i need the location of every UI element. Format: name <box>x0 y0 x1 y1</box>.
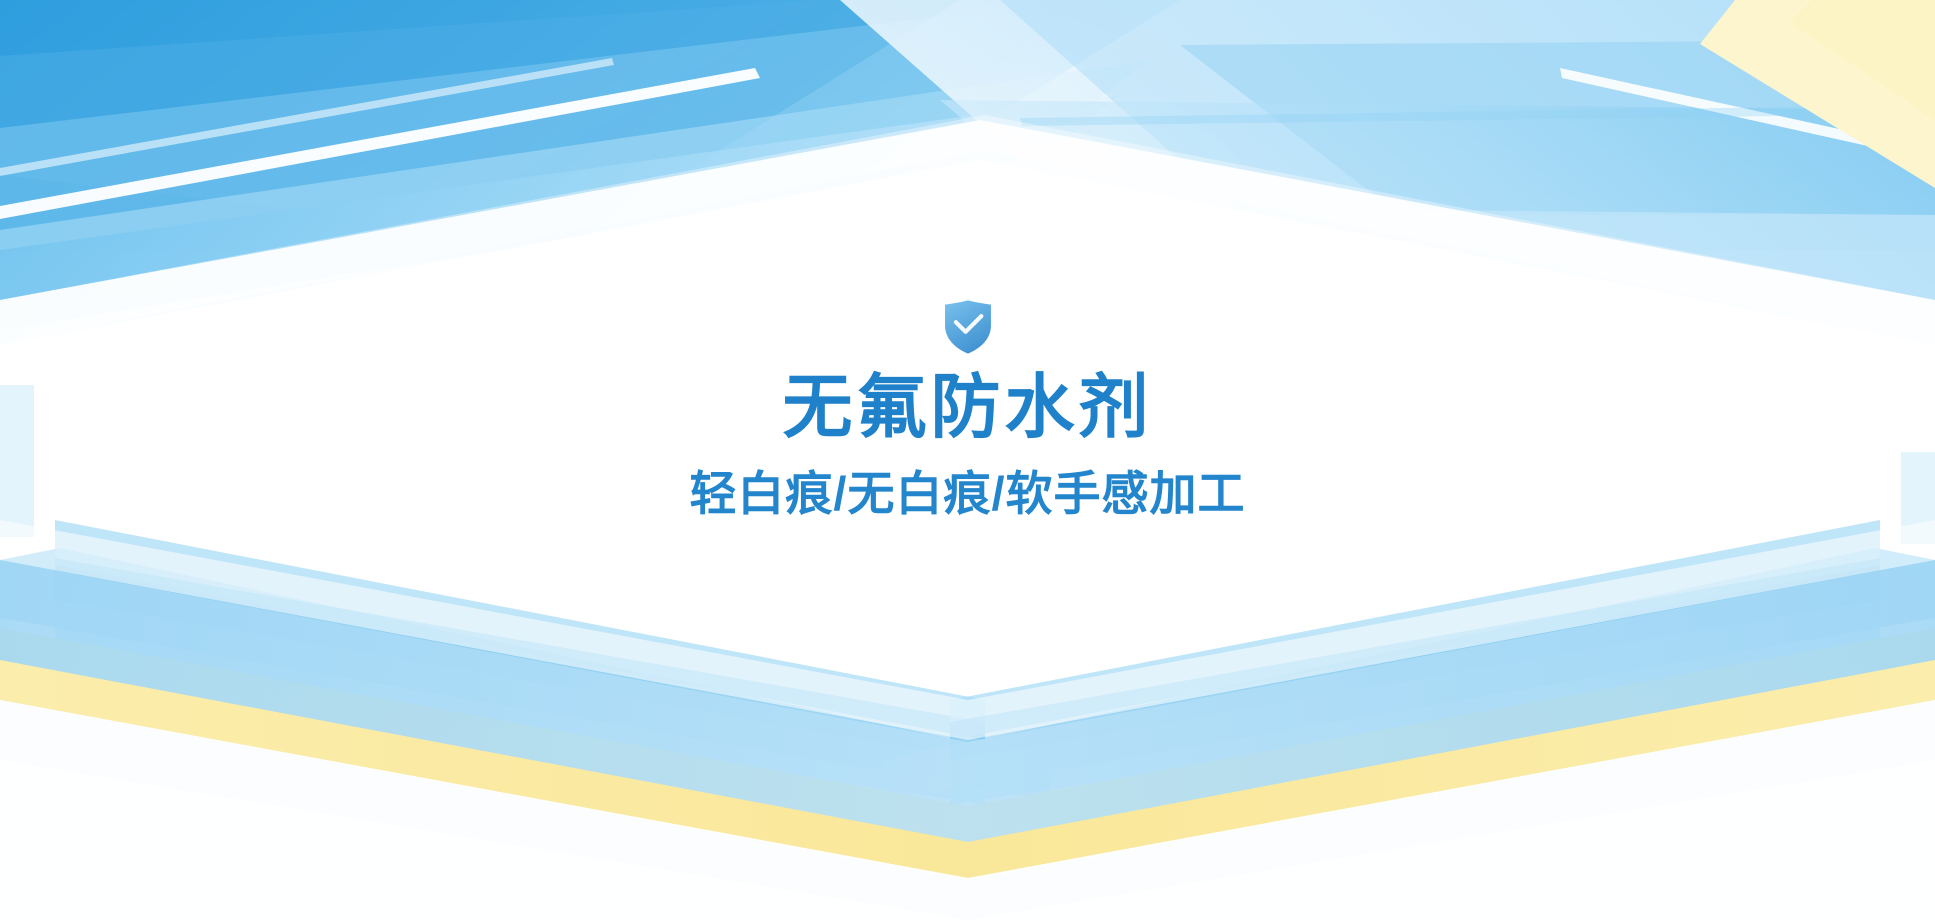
decorative-background-art <box>0 0 1935 920</box>
promo-banner: 无氟防水剂 轻白痕/无白痕/软手感加工 <box>0 0 1935 920</box>
